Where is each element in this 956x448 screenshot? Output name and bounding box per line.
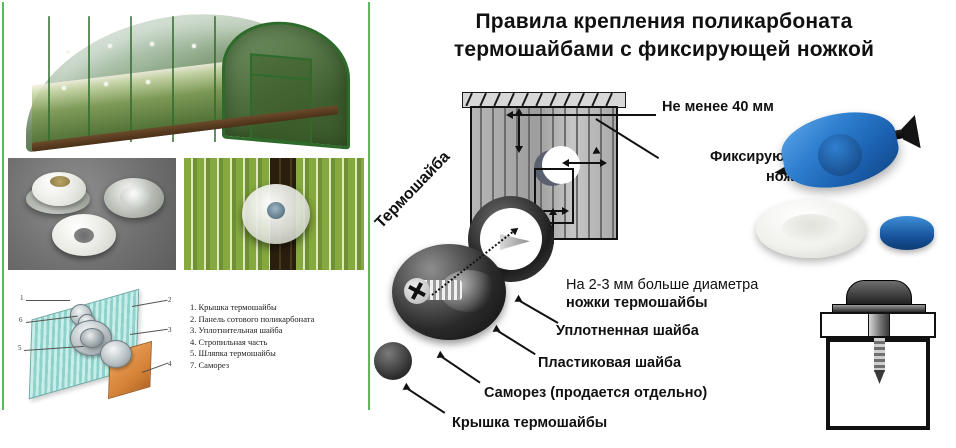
bottom-width-arrow-head-right — [562, 207, 569, 215]
iso-leader-1 — [26, 300, 70, 301]
iso-callout-1: 1 — [20, 294, 24, 302]
iso-callout-5: 5 — [18, 344, 22, 352]
legend-list: 1. Крышка термошайбы 2. Панель сотового … — [190, 302, 366, 372]
washer-dot — [108, 44, 112, 48]
greenhouse-door — [250, 53, 312, 144]
thermal-washer-assembly-illustration — [370, 196, 560, 396]
sheet-cell-diagonal — [465, 93, 472, 106]
sheet-cell-diagonal — [521, 93, 528, 106]
washer-dot — [150, 42, 154, 46]
blue-washer-hub — [818, 134, 862, 176]
washer-cap-circle — [374, 342, 412, 380]
iso-callout-4: 4 — [168, 360, 172, 368]
cross-section-washer-leg — [868, 313, 890, 337]
sheet-cell-diagonal — [577, 93, 584, 106]
greenhouse-rib — [48, 16, 50, 142]
transparent-washer-dome — [120, 186, 150, 208]
washer-dot — [146, 80, 150, 84]
iso-callout-2: 2 — [168, 296, 172, 304]
cross-section-washer-cap — [846, 280, 912, 306]
left-photo-column: 1 6 5 2 3 4 1. Крышка термошайбы 2. Пане… — [0, 0, 372, 448]
sheet-cell-diagonal — [535, 93, 542, 106]
sheet-cell-diagonal — [563, 93, 570, 106]
thermal-washer-installed-photo — [184, 158, 364, 270]
hole-diameter-arrow-line — [568, 162, 602, 164]
sheet-cell-diagonal — [493, 93, 500, 106]
green-divider-left — [2, 2, 4, 410]
label-diameter-note-line2: ножки термошайбы — [566, 294, 708, 312]
blue-washer-cap — [880, 216, 934, 250]
legend-item: 1. Крышка термошайбы — [190, 302, 366, 314]
title-line-1: Правила крепления поликарбоната — [396, 8, 932, 36]
sheet-rib — [600, 108, 602, 238]
greenhouse-rib — [130, 16, 132, 142]
sheet-cell-diagonal — [479, 93, 486, 106]
legend-item: 3. Уплотнительная шайба — [190, 325, 366, 337]
washer-dot — [62, 86, 66, 90]
legend-item: 7. Саморез — [190, 360, 366, 372]
sealing-washer-iso — [100, 340, 132, 368]
label-sealing-washer: Уплотненная шайба — [556, 322, 699, 340]
label-diameter-note-line1: На 2-3 мм больше диаметра — [566, 276, 758, 294]
sheet-cell-diagonal — [549, 93, 556, 106]
legend-item: 5. Шляпка термошайбы — [190, 348, 366, 360]
greenhouse-rib — [172, 16, 174, 142]
installed-screw-head — [267, 202, 285, 219]
legend-item: 4. Стропильная часть — [190, 337, 366, 349]
greenhouse-structure — [26, 16, 346, 142]
iso-callout-6: 6 — [19, 316, 23, 324]
sheet-cell-diagonal — [507, 93, 514, 106]
edge-distance-arrow-line — [518, 114, 520, 150]
washer-dot — [66, 50, 70, 54]
label-washer-cap: Крышка термошайбы — [452, 414, 607, 432]
hole-diameter-arrow-head-right — [600, 159, 607, 167]
isometric-assembly-drawing: 1 6 5 2 3 4 — [8, 278, 184, 406]
washer-metal-insert — [50, 176, 70, 187]
leader-min40-horizontal — [512, 114, 656, 116]
hole-diameter-arrow-head-left — [562, 159, 569, 167]
greenhouse-rib — [88, 16, 90, 142]
cross-section-drawing — [812, 280, 942, 440]
blue-washer-screw-head — [899, 115, 921, 151]
iso-callout-3: 3 — [168, 326, 172, 334]
foam-ring-hole — [74, 228, 94, 243]
leader-min40-arrowhead — [506, 111, 513, 119]
page-title: Правила крепления поликарбоната термошай… — [396, 8, 932, 64]
edge-distance-arrow-head-down — [515, 146, 523, 153]
legend-item: 2. Панель сотового поликарбоната — [190, 314, 366, 326]
sheet-cell-diagonal — [605, 93, 612, 106]
thermal-washer-parts-photo — [8, 158, 176, 270]
sheet-cell-diagonal — [591, 93, 598, 106]
title-line-2: термошайбами с фиксирующей ножкой — [396, 36, 932, 64]
washer-dot — [104, 82, 108, 86]
greenhouse-photo — [8, 4, 364, 152]
cross-section-screw — [874, 338, 885, 372]
white-foam-ring-hole — [782, 214, 840, 242]
blue-thermal-washer-illustration — [752, 108, 952, 266]
washer-dot — [192, 44, 196, 48]
sheet-rib — [588, 108, 590, 238]
